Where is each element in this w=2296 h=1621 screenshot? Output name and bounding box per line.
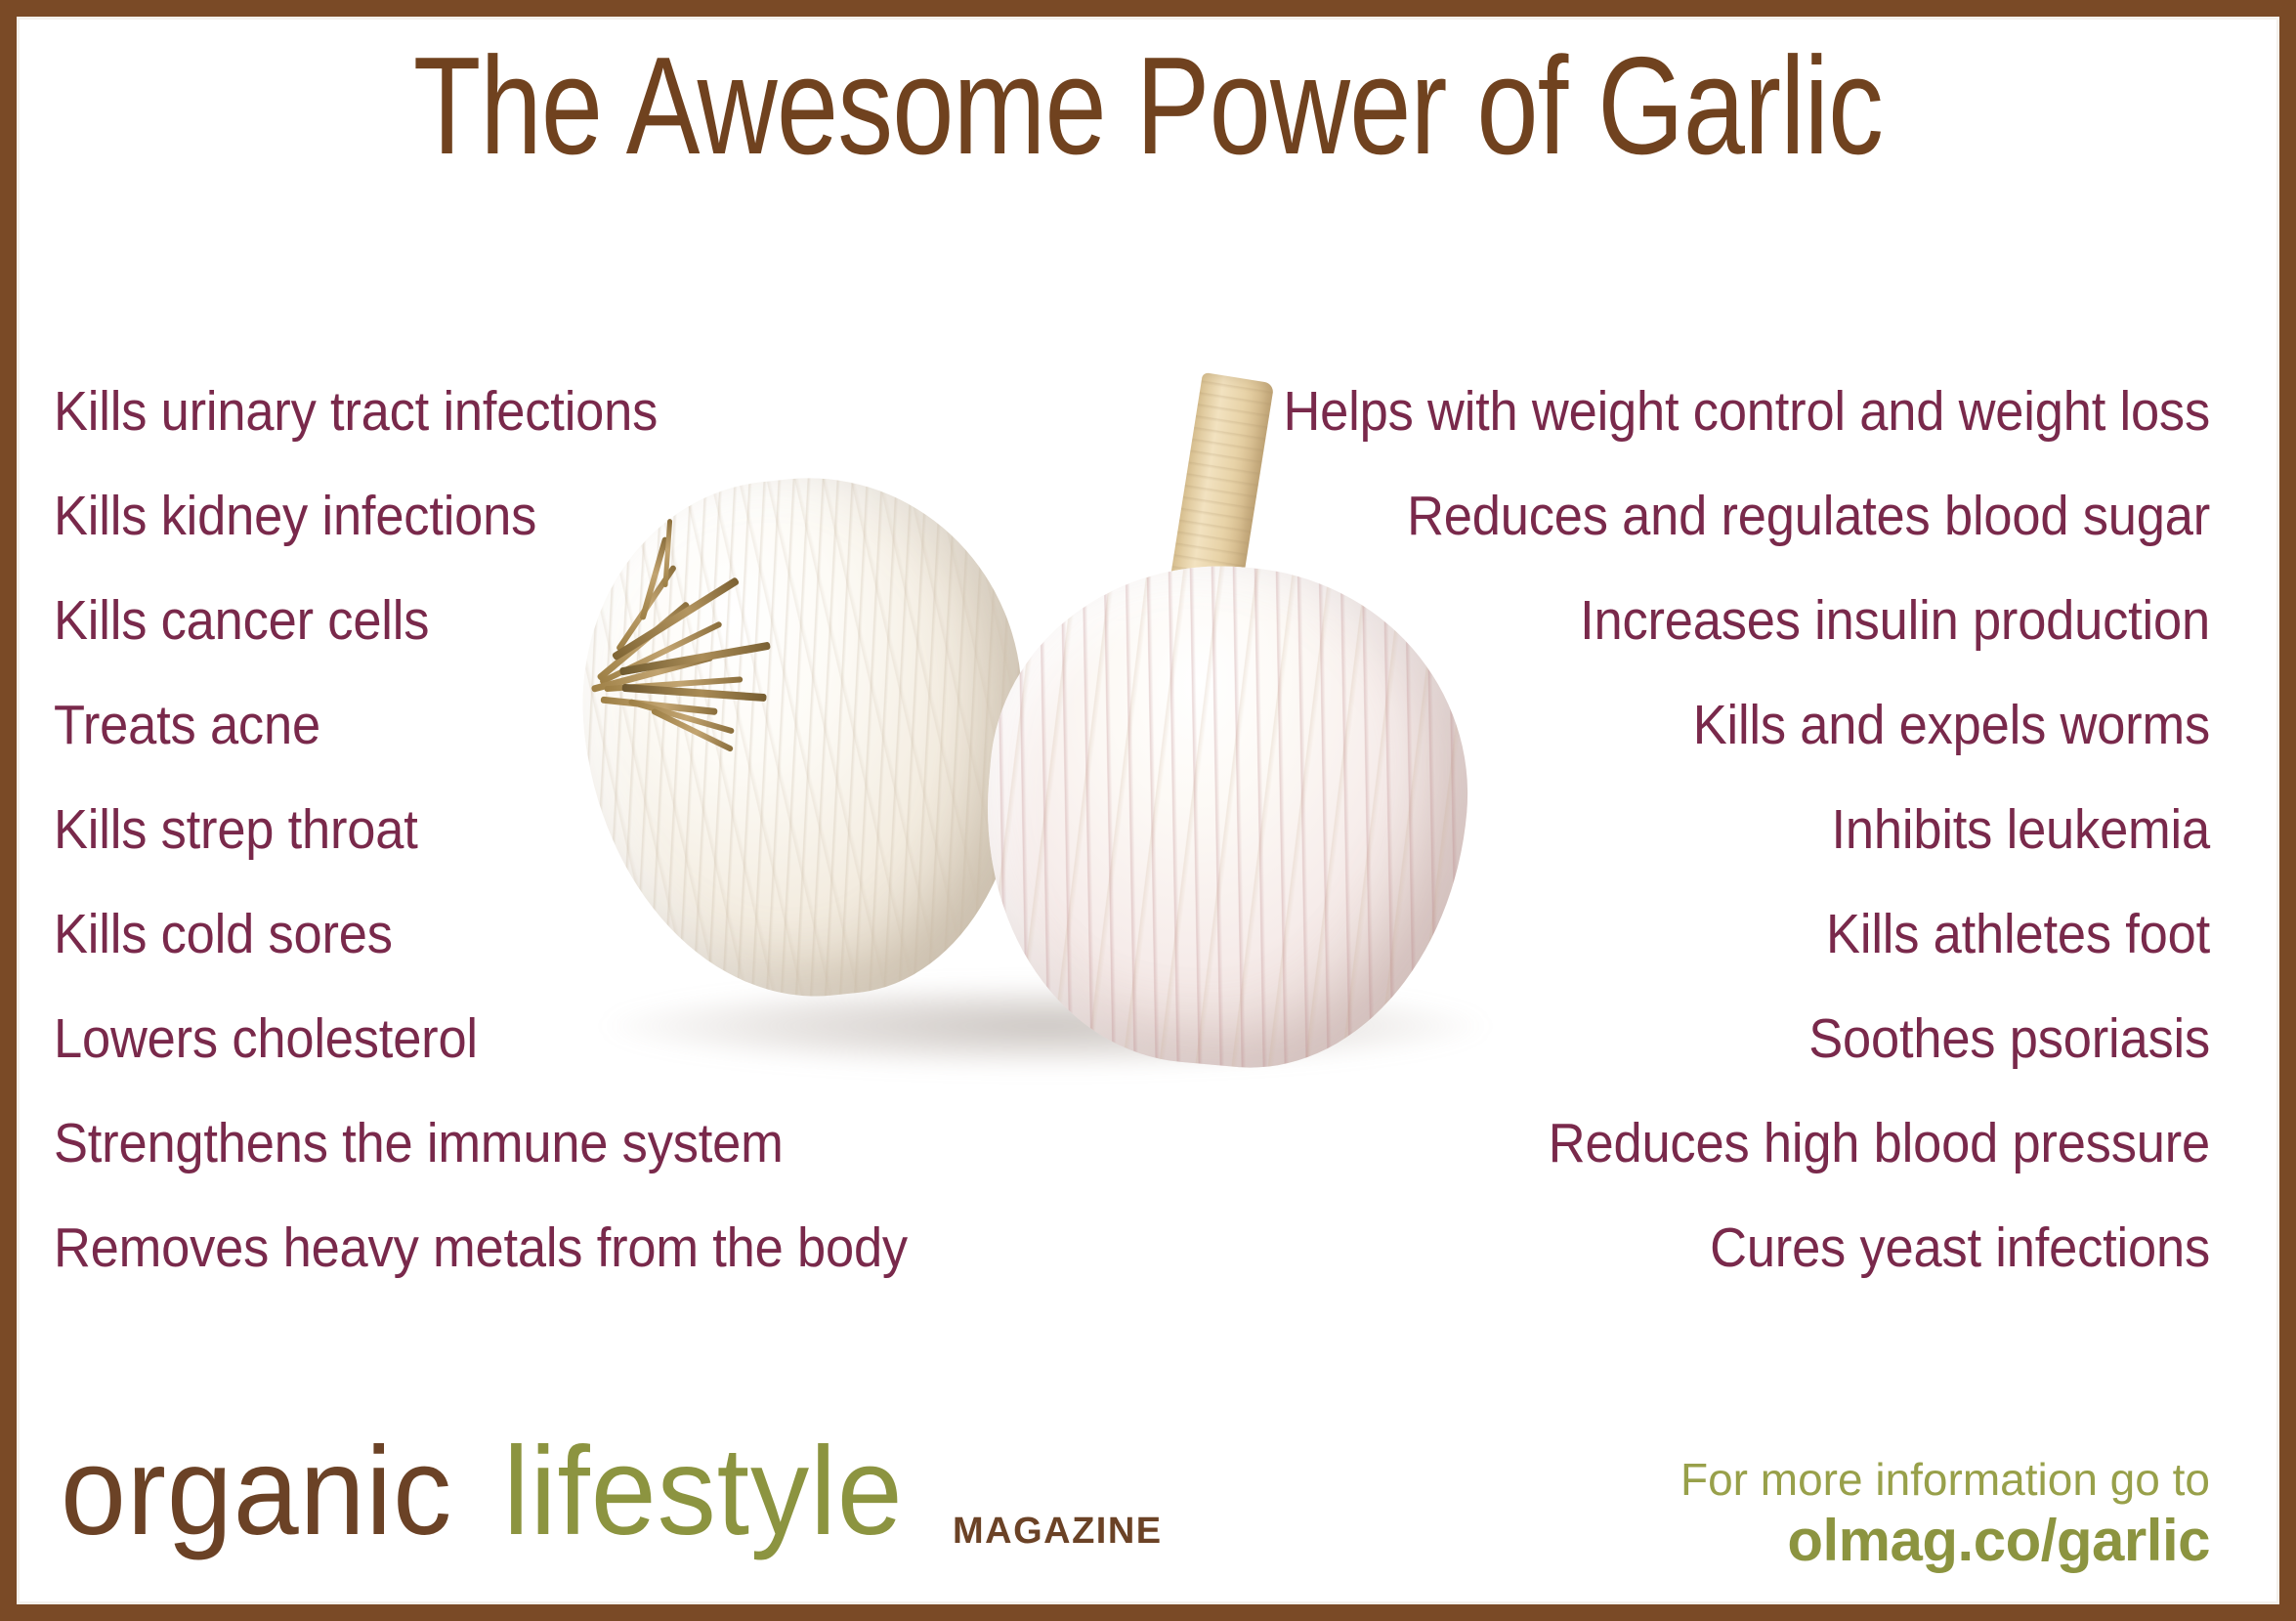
- brand-logo-word-organic: organic: [61, 1429, 452, 1555]
- benefit-item: Kills urinary tract infections: [54, 360, 970, 464]
- benefit-item: Kills cancer cells: [54, 569, 970, 673]
- benefit-item: Soothes psoriasis: [1168, 987, 2210, 1091]
- benefits-column-left: Kills urinary tract infections Kills kid…: [54, 360, 1050, 1301]
- benefit-item: Increases insulin production: [1168, 569, 2210, 673]
- benefit-item: Kills kidney infections: [54, 464, 970, 569]
- benefit-item: Reduces and regulates blood sugar: [1168, 464, 2210, 569]
- benefit-item: Reduces high blood pressure: [1168, 1091, 2210, 1196]
- frame-border-bottom: [0, 1604, 2296, 1621]
- footer-cta-text: For more information go to: [1680, 1453, 2210, 1506]
- benefit-item: Kills and expels worms: [1168, 673, 2210, 778]
- benefits-column-right: Helps with weight control and weight los…: [1077, 360, 2210, 1301]
- benefit-item: Kills athletes foot: [1168, 882, 2210, 987]
- frame-border-top: [0, 0, 2296, 17]
- benefit-item: Kills strep throat: [54, 778, 970, 882]
- benefit-item: Inhibits leukemia: [1168, 778, 2210, 882]
- benefit-item: Kills cold sores: [54, 882, 970, 987]
- brand-logo-subtext: MAGAZINE: [953, 1511, 1163, 1553]
- benefit-item: Cures yeast infections: [1168, 1196, 2210, 1301]
- benefit-item: Treats acne: [54, 673, 970, 778]
- brand-logo[interactable]: organiclifestyle: [61, 1429, 929, 1555]
- frame-border-right: [2279, 0, 2296, 1621]
- footer-url-link[interactable]: olmag.co/garlic: [1787, 1507, 2210, 1574]
- benefit-item: Removes heavy metals from the body: [54, 1196, 970, 1301]
- frame-border-left: [0, 0, 17, 1621]
- page-title: The Awesome Power of Garlic: [230, 37, 2066, 176]
- benefit-item: Helps with weight control and weight los…: [1168, 360, 2210, 464]
- benefit-item: Strengthens the immune system: [54, 1091, 970, 1196]
- benefit-item: Lowers cholesterol: [54, 987, 970, 1091]
- brand-logo-word-lifestyle: lifestyle: [503, 1429, 904, 1555]
- infographic-poster: The Awesome Power of Garlic Kills urinar…: [0, 0, 2296, 1621]
